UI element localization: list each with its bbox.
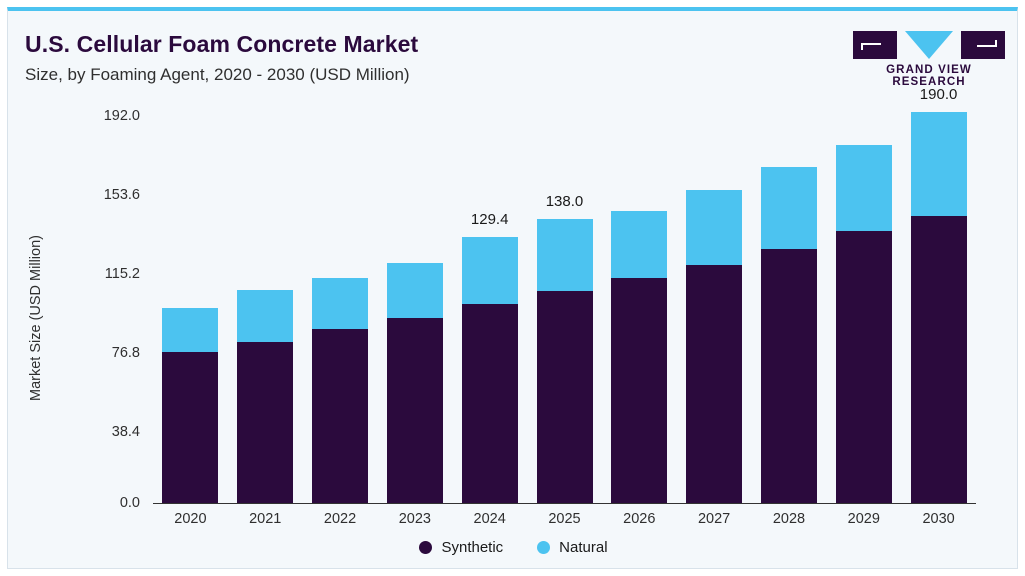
x-tick-2020: 2020 <box>150 511 230 527</box>
bar-segment-synthetic[interactable] <box>911 216 967 503</box>
bar-group[interactable] <box>237 290 293 503</box>
bar-group[interactable] <box>312 278 368 503</box>
bar-group[interactable] <box>162 308 218 503</box>
legend-swatch-natural-icon <box>537 541 550 554</box>
bar-segment-synthetic[interactable] <box>761 249 817 503</box>
bar-group[interactable] <box>761 167 817 503</box>
x-tick-2022: 2022 <box>300 511 380 527</box>
bar-segment-synthetic[interactable] <box>312 329 368 503</box>
bar-group[interactable] <box>611 211 667 503</box>
bar-group[interactable] <box>836 145 892 503</box>
chart-header: U.S. Cellular Foam Concrete Market Size,… <box>8 11 1017 95</box>
y-tick-2: 76.8 <box>70 345 140 361</box>
bar-segment-natural[interactable] <box>611 211 667 278</box>
logo-text: GRAND VIEW RESEARCH <box>853 64 1005 88</box>
y-tick-1: 38.4 <box>70 424 140 440</box>
bar-group[interactable]: 190.0 <box>911 112 967 503</box>
x-tick-2028: 2028 <box>749 511 829 527</box>
legend-item-synthetic[interactable]: Synthetic <box>419 539 503 556</box>
bar-value-label: 138.0 <box>510 193 620 210</box>
bar-group[interactable] <box>686 190 742 503</box>
page-title: U.S. Cellular Foam Concrete Market <box>25 31 418 58</box>
bar-group[interactable]: 138.0 <box>537 219 593 503</box>
bar-segment-natural[interactable] <box>537 219 593 291</box>
x-tick-2027: 2027 <box>674 511 754 527</box>
legend-label-natural: Natural <box>559 539 607 556</box>
logo-triangle-icon <box>905 31 953 59</box>
bar-segment-synthetic[interactable] <box>387 318 443 503</box>
y-tick-0: 0.0 <box>70 495 140 511</box>
logo-left-block <box>853 31 897 59</box>
bar-segment-natural[interactable] <box>162 308 218 352</box>
y-tick-3: 115.2 <box>70 266 140 282</box>
x-tick-2030: 2030 <box>899 511 979 527</box>
bar-segment-synthetic[interactable] <box>462 304 518 503</box>
legend-item-natural[interactable]: Natural <box>537 539 607 556</box>
plot-area: Market Size (USD Million) 192.0 153.6 11… <box>8 95 1019 573</box>
y-axis-label: Market Size (USD Million) <box>28 198 44 438</box>
bar-segment-synthetic[interactable] <box>686 265 742 503</box>
logo-right-block <box>961 31 1005 59</box>
bar-segment-synthetic[interactable] <box>237 342 293 503</box>
bar-value-label: 190.0 <box>884 86 994 103</box>
legend-label-synthetic: Synthetic <box>441 539 503 556</box>
bar-segment-natural[interactable] <box>462 237 518 305</box>
bar-value-label: 129.4 <box>435 211 545 228</box>
bar-segment-synthetic[interactable] <box>611 278 667 503</box>
bar-segment-natural[interactable] <box>237 290 293 341</box>
bar-segment-synthetic[interactable] <box>162 352 218 503</box>
x-tick-2021: 2021 <box>225 511 305 527</box>
legend-swatch-synthetic-icon <box>419 541 432 554</box>
x-tick-2025: 2025 <box>525 511 605 527</box>
bar-segment-natural[interactable] <box>911 112 967 216</box>
brand-logo: GRAND VIEW RESEARCH <box>853 31 1005 83</box>
x-tick-2026: 2026 <box>599 511 679 527</box>
logo-left-line <box>861 43 881 45</box>
y-tick-4: 153.6 <box>70 187 140 203</box>
bar-segment-natural[interactable] <box>312 278 368 329</box>
x-tick-2029: 2029 <box>824 511 904 527</box>
x-tick-2024: 2024 <box>450 511 530 527</box>
logo-right-tick <box>995 40 997 47</box>
logo-left-tick <box>861 43 863 50</box>
bar-segment-natural[interactable] <box>686 190 742 265</box>
bar-group[interactable] <box>387 263 443 503</box>
chart-subtitle: Size, by Foaming Agent, 2020 - 2030 (USD… <box>25 65 410 85</box>
chart-legend: Synthetic Natural <box>8 539 1019 556</box>
bar-group[interactable]: 129.4 <box>462 237 518 503</box>
bar-segment-synthetic[interactable] <box>836 231 892 503</box>
y-tick-5: 192.0 <box>70 108 140 124</box>
chart-card: U.S. Cellular Foam Concrete Market Size,… <box>7 7 1018 569</box>
bar-segment-natural[interactable] <box>836 145 892 231</box>
bar-segment-natural[interactable] <box>387 263 443 318</box>
bar-segment-synthetic[interactable] <box>537 291 593 503</box>
x-axis-line <box>153 503 976 504</box>
bar-segment-natural[interactable] <box>761 167 817 249</box>
logo-right-line <box>977 45 997 47</box>
x-tick-2023: 2023 <box>375 511 455 527</box>
